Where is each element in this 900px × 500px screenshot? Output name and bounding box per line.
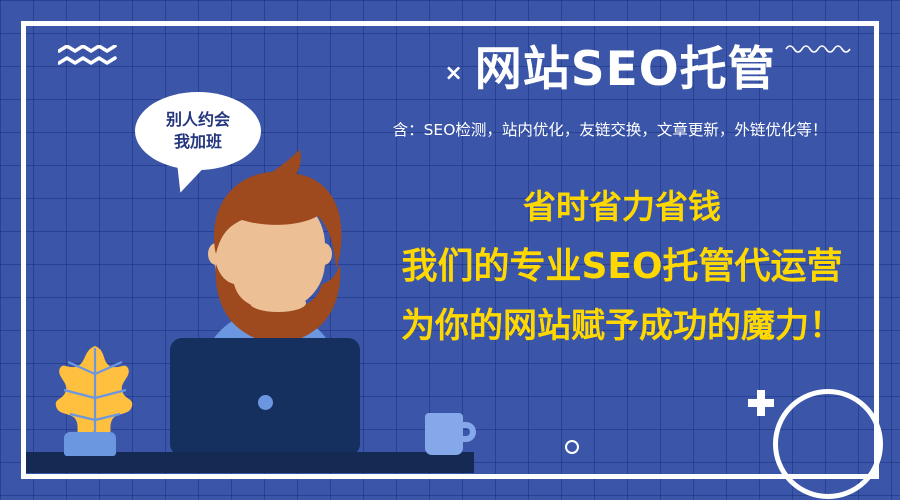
plant-pot <box>64 432 116 456</box>
slogan-line-3: 为你的网站赋予成功的魔力！ <box>372 309 872 343</box>
zigzag-wave-top-left-icon <box>58 45 120 67</box>
speech-bubble-line-2: 我加班 <box>174 131 222 153</box>
poster-subtitle: 含：SEO检测，站内优化，友链交换，文章更新，外链优化等！ <box>330 118 890 140</box>
slogan-line-1: 省时省力省钱 <box>372 190 872 223</box>
page-title: 网站SEO托管 <box>475 44 776 96</box>
slogan-line-2: 我们的专业SEO托管代运营 <box>372 249 872 285</box>
laptop-logo-icon <box>258 395 273 410</box>
plus-decoration-icon <box>748 390 774 416</box>
large-circle-decoration <box>773 389 883 499</box>
title-bullet-mark: × <box>444 55 462 85</box>
speech-bubble: 别人约会 我加班 <box>135 92 261 170</box>
small-circle-decoration <box>565 440 579 454</box>
laptop <box>170 338 360 456</box>
slogan-list: 省时省力省钱 我们的专业SEO托管代运营 为你的网站赋予成功的魔力！ <box>372 190 872 343</box>
speech-bubble-line-1: 别人约会 <box>166 109 230 131</box>
squiggle-wave-top-right-icon <box>785 42 857 54</box>
seo-promo-poster: × 网站SEO托管 含：SEO检测，站内优化，友链交换，文章更新，外链优化等！ … <box>0 0 900 500</box>
coffee-mug <box>425 413 463 455</box>
